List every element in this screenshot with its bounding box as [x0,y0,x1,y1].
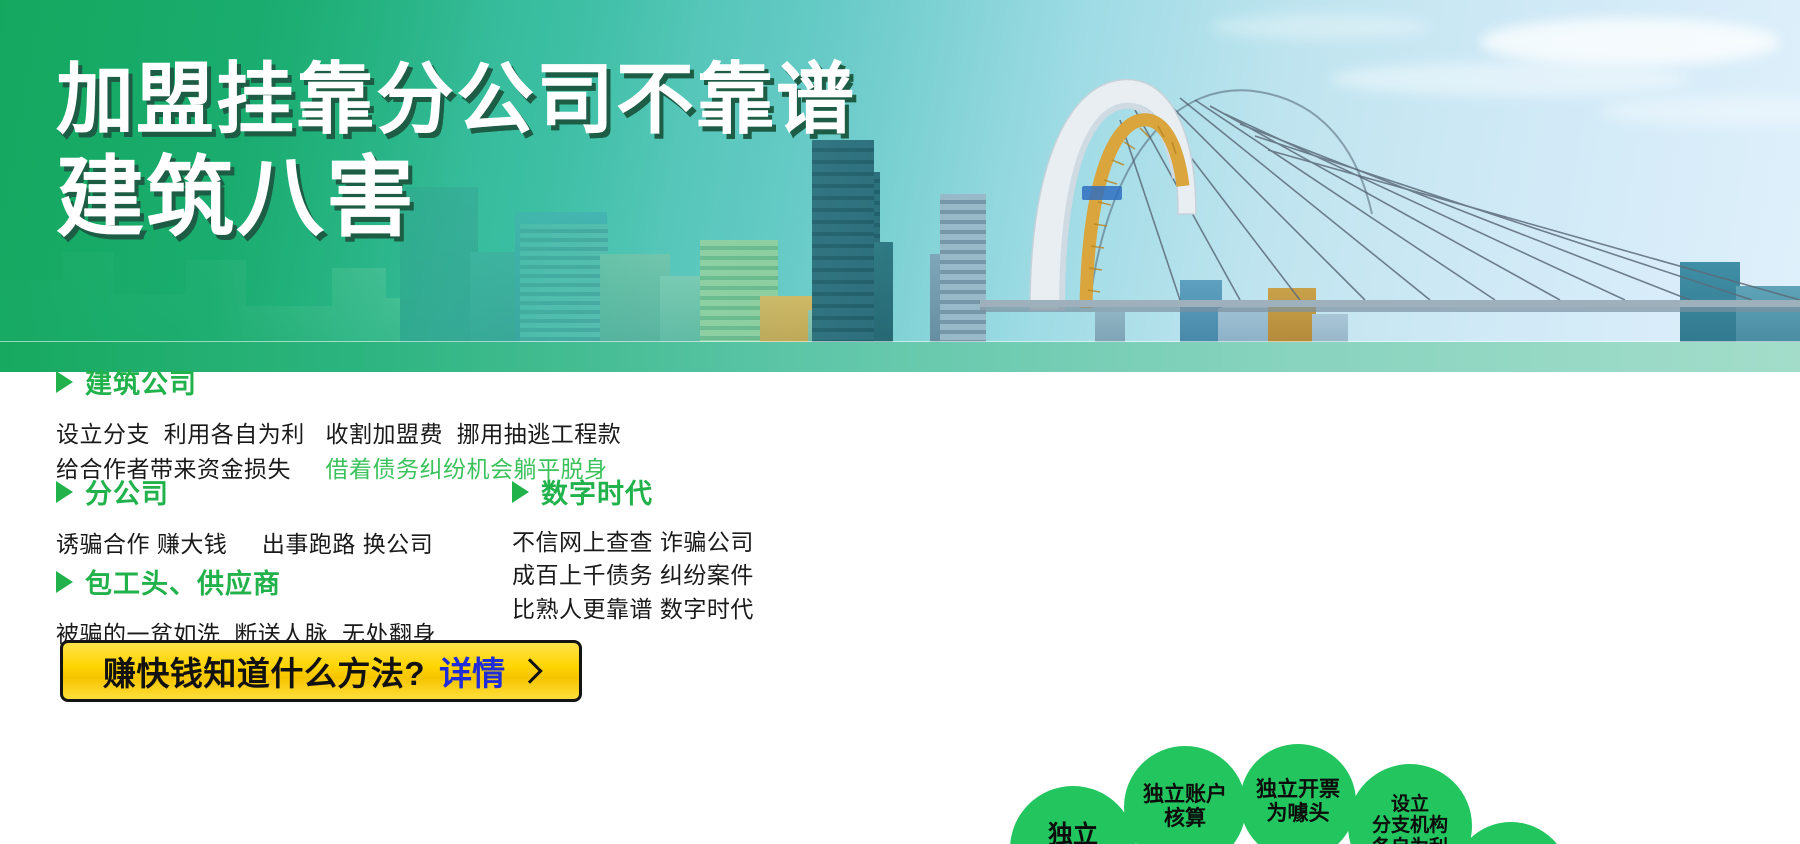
section-header: 数字时代 [512,472,754,511]
triangle-bullet-icon [56,371,73,393]
hero-banner: 加盟挂靠分公司不靠谱 建筑八害 [0,0,1800,372]
section-header: 建筑公司 [56,362,621,401]
section-contractor-supplier: 包工头、供应商 被骗的一贫如洗 断送人脉 无处翻身 [56,562,436,651]
section-line: 设立分支 利用各自为利 收割加盟费 挪用抽逃工程款 [56,418,621,451]
section-line: 比熟人更靠谱 数字时代 [512,593,754,626]
section-title: 数字时代 [541,472,653,511]
bubble-text: 独立账户 核算 [1143,783,1227,831]
triangle-bullet-icon [56,481,73,503]
section-line: 不信网上查查 诈骗公司 [512,526,754,559]
hero-title-line1: 加盟挂靠分公司不靠谱 [56,58,856,141]
section-digital-era: 数字时代 不信网上查查 诈骗公司 成百上千债务 纠纷案件 比熟人更靠谱 数字时代 [512,472,754,626]
content-area: 建筑公司 设立分支 利用各自为利 收割加盟费 挪用抽逃工程款 给合作者带来资金损… [0,372,1800,844]
bubble-text: 设立 分支机构 各自为利 [1372,794,1448,844]
section-title: 分公司 [85,472,169,511]
bubble-text: 独立 运营 [1048,821,1098,844]
left-column: 建筑公司 设立分支 利用各自为利 收割加盟费 挪用抽逃工程款 给合作者带来资金损… [0,372,800,844]
section-branch-company: 分公司 诱骗合作 赚大钱 出事跑路 换公司 [56,472,433,561]
cta-main-label: 赚快钱知道什么方法? [103,647,425,695]
triangle-bullet-icon [512,481,529,503]
hero-title: 加盟挂靠分公司不靠谱 建筑八害 [56,58,856,244]
section-title: 包工头、供应商 [85,562,281,601]
chevron-right-icon [517,658,542,683]
hero-title-line2: 建筑八害 [56,151,856,244]
section-line: 成百上千债务 纠纷案件 [512,559,754,592]
cta-button[interactable]: 赚快钱知道什么方法? 详情 [60,640,582,702]
cta-link-label[interactable]: 详情 [439,647,505,695]
bubble-text: 独立开票 为噱头 [1256,778,1340,826]
poster-root: 加盟挂靠分公司不靠谱 建筑八害 建筑公司 设立分支 利用各自为利 收割加盟费 挪… [0,0,1800,844]
section-line: 诱骗合作 赚大钱 出事跑路 换公司 [56,528,433,561]
section-header: 分公司 [56,472,433,511]
triangle-bullet-icon [56,571,73,593]
section-construction-company: 建筑公司 设立分支 利用各自为利 收割加盟费 挪用抽逃工程款 给合作者带来资金损… [56,362,621,487]
bubble-diagram: 建筑八害 借着使用 总公司资质 业绩和荣誉 独立承揽 签订合同 独立 运营 [790,702,1800,844]
section-title: 建筑公司 [85,362,197,401]
section-header: 包工头、供应商 [56,562,436,601]
